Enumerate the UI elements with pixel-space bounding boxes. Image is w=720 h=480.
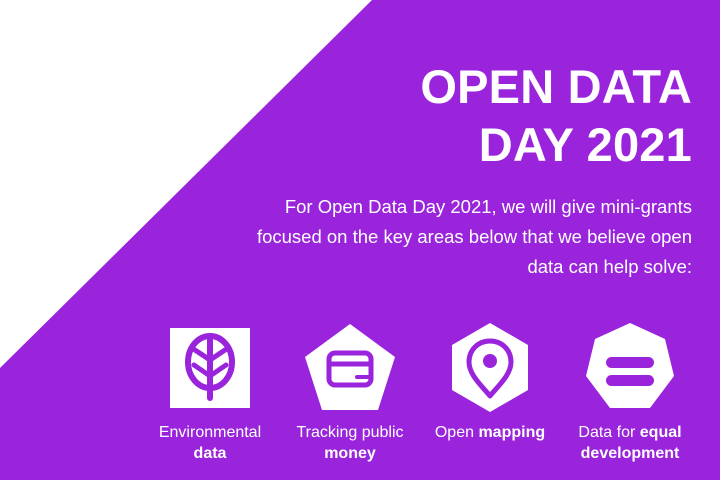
- focus-area-row: Environmental data Tracking public money: [140, 320, 700, 480]
- focus-area-open-mapping[interactable]: Open mapping: [420, 320, 560, 443]
- focus-area-label-bold: mapping: [478, 424, 545, 441]
- intro-paragraph: For Open Data Day 2021, we will give min…: [222, 192, 692, 282]
- focus-area-tracking-public-money[interactable]: Tracking public money: [280, 320, 420, 464]
- focus-area-label-regular: Open: [435, 424, 474, 441]
- focus-area-label: Tracking public money: [282, 422, 418, 464]
- focus-area-data-for-equal-development[interactable]: Data for equal development: [560, 320, 700, 464]
- focus-area-label-regular: Tracking public: [296, 424, 403, 441]
- focus-area-label: Open mapping: [422, 422, 558, 443]
- focus-area-label-regular: Data for: [578, 424, 635, 441]
- focus-area-label: Environmental data: [142, 422, 278, 464]
- credit-card-icon: [302, 320, 398, 416]
- focus-area-label-bold: money: [324, 445, 376, 462]
- page-title: OPEN DATA DAY 2021: [92, 58, 692, 174]
- map-pin-icon: [442, 320, 538, 416]
- focus-area-label: Data for equal development: [562, 422, 698, 464]
- focus-area-label-regular: Environmental: [159, 424, 261, 441]
- focus-area-label-bold: data: [194, 445, 227, 462]
- equals-icon: [582, 320, 678, 416]
- leaf-icon: [162, 320, 258, 416]
- open-data-day-poster: OPEN DATA DAY 2021 For Open Data Day 202…: [0, 0, 720, 480]
- page-title-line-2: DAY 2021: [92, 116, 692, 174]
- page-title-line-1: OPEN DATA: [92, 58, 692, 116]
- focus-area-environmental-data[interactable]: Environmental data: [140, 320, 280, 464]
